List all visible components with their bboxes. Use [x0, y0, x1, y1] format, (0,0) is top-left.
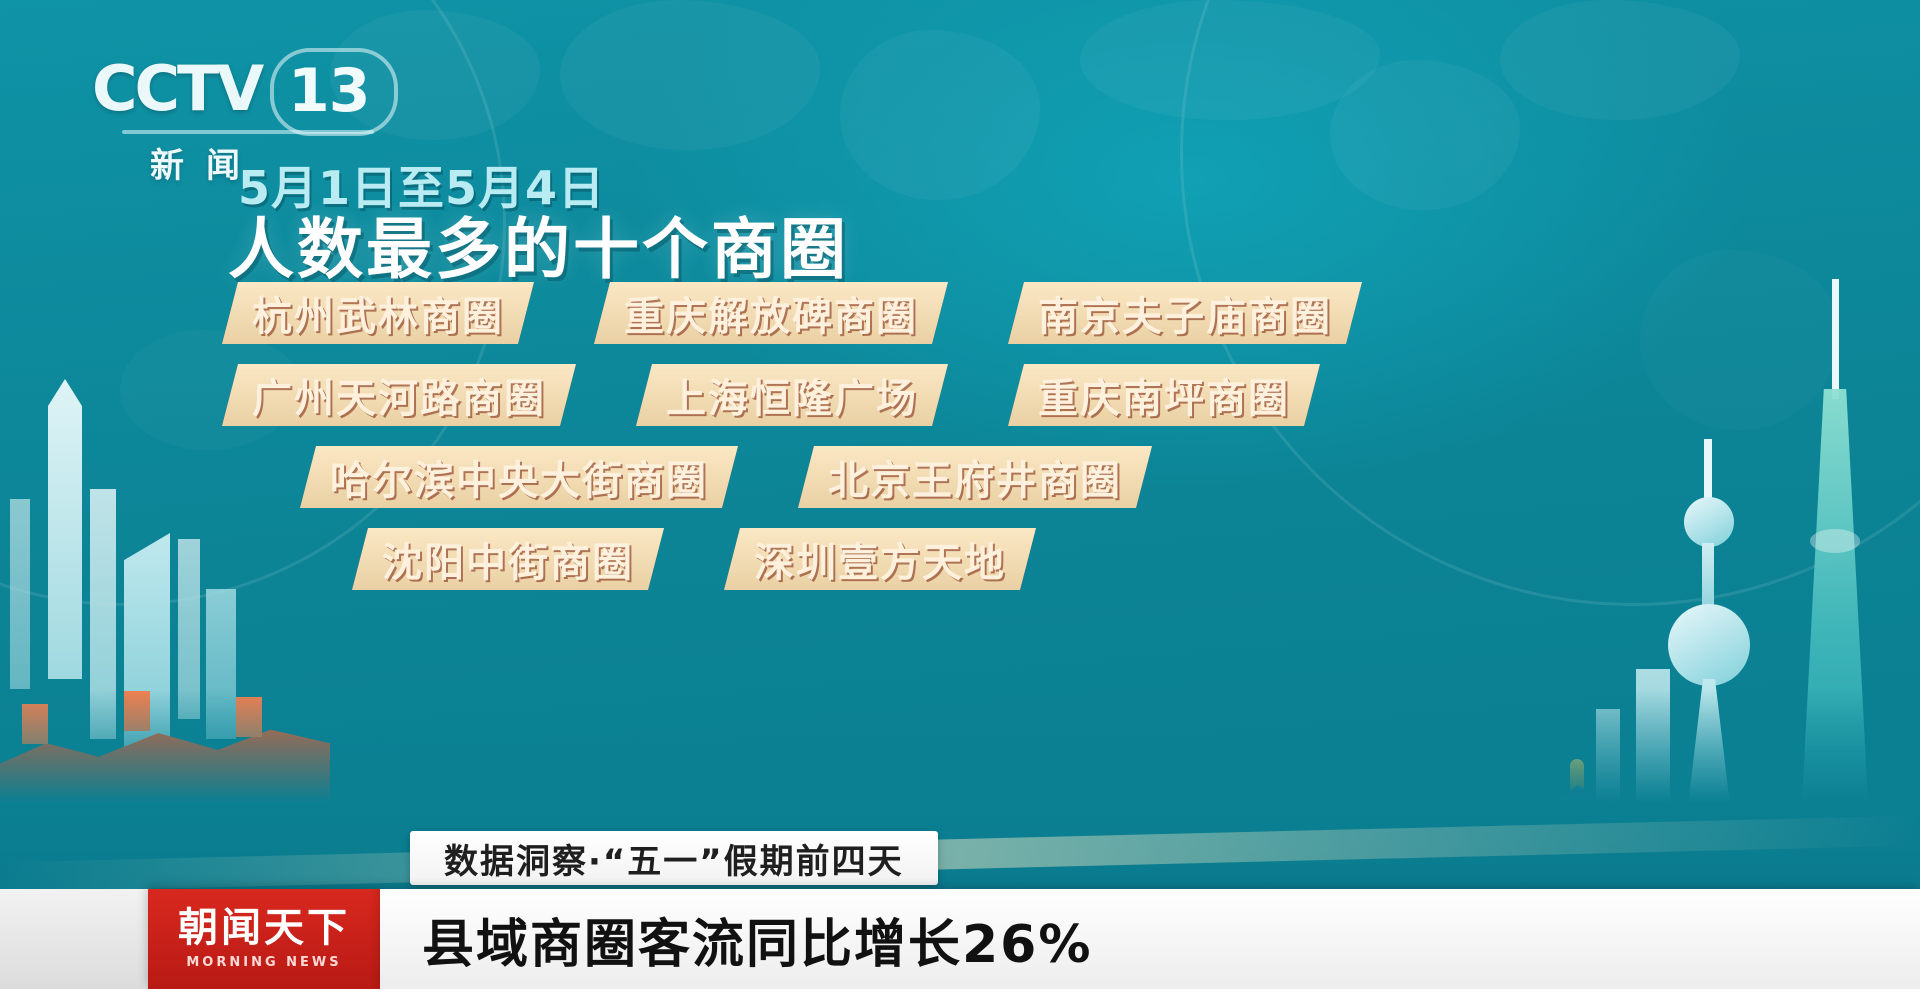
pill-row: 沈阳中街商圈 深圳壹方天地 [0, 528, 1450, 590]
pill-row: 广州天河路商圈 上海恒隆广场 重庆南坪商圈 [0, 364, 1450, 426]
lower-third-banner: 数据洞察·“五一”假期前四天 朝闻天下 MORNING NEWS 县域商圈客流同… [0, 814, 1920, 989]
business-district-pill[interactable]: 杭州武林商圈 [222, 282, 534, 344]
business-district-pill[interactable]: 上海恒隆广场 [636, 364, 948, 426]
data-insight-strip: 数据洞察·“五一”假期前四天 [410, 831, 938, 885]
pill-item[interactable]: 哈尔滨中央大街商圈 [300, 446, 768, 508]
pill-item[interactable]: 杭州武林商圈 [222, 282, 564, 344]
news-headline-text: 县域商圈客流同比增长26% [422, 902, 1092, 977]
business-district-list: 杭州武林商圈 重庆解放碑商圈 南京夫子庙商圈 广州天河路商圈 上海恒隆广场 重庆… [0, 282, 1450, 610]
business-district-pill[interactable]: 北京王府井商圈 [798, 446, 1152, 508]
page-title: 人数最多的十个商圈 [228, 196, 849, 292]
pill-item[interactable]: 重庆解放碑商圈 [594, 282, 978, 344]
business-district-pill[interactable]: 重庆南坪商圈 [1008, 364, 1320, 426]
pill-item[interactable]: 广州天河路商圈 [222, 364, 606, 426]
business-district-pill[interactable]: 重庆解放碑商圈 [594, 282, 948, 344]
pill-item[interactable]: 重庆南坪商圈 [1008, 364, 1350, 426]
banner-left-cap [0, 889, 150, 989]
business-district-pill[interactable]: 哈尔滨中央大街商圈 [300, 446, 738, 508]
pill-item[interactable]: 沈阳中街商圈 [352, 528, 694, 590]
business-district-pill[interactable]: 深圳壹方天地 [724, 528, 1036, 590]
business-district-pill[interactable]: 广州天河路商圈 [222, 364, 576, 426]
business-district-pill[interactable]: 南京夫子庙商圈 [1008, 282, 1362, 344]
logo-underline [122, 130, 374, 134]
program-name-en: MORNING NEWS [186, 955, 341, 970]
broadcast-screen: CCTV 13 新闻 5月1日至5月4日 人数最多的十个商圈 杭州武林商圈 重庆… [0, 0, 1920, 989]
program-name-cn: 朝闻天下 [178, 908, 350, 948]
pill-row: 哈尔滨中央大街商圈 北京王府井商圈 [0, 446, 1450, 508]
pill-item[interactable]: 深圳壹方天地 [724, 528, 1066, 590]
program-logo: 朝闻天下 MORNING NEWS [148, 889, 380, 989]
data-insight-text: 数据洞察·“五一”假期前四天 [444, 834, 904, 883]
pill-row: 杭州武林商圈 重庆解放碑商圈 南京夫子庙商圈 [0, 282, 1450, 344]
pill-item[interactable]: 上海恒隆广场 [636, 364, 978, 426]
pill-item[interactable]: 北京王府井商圈 [798, 446, 1182, 508]
business-district-pill[interactable]: 沈阳中街商圈 [352, 528, 664, 590]
pill-item[interactable]: 南京夫子庙商圈 [1008, 282, 1392, 344]
channel-number: 13 [288, 56, 370, 126]
news-headline-bar: 县域商圈客流同比增长26% [380, 889, 1920, 989]
